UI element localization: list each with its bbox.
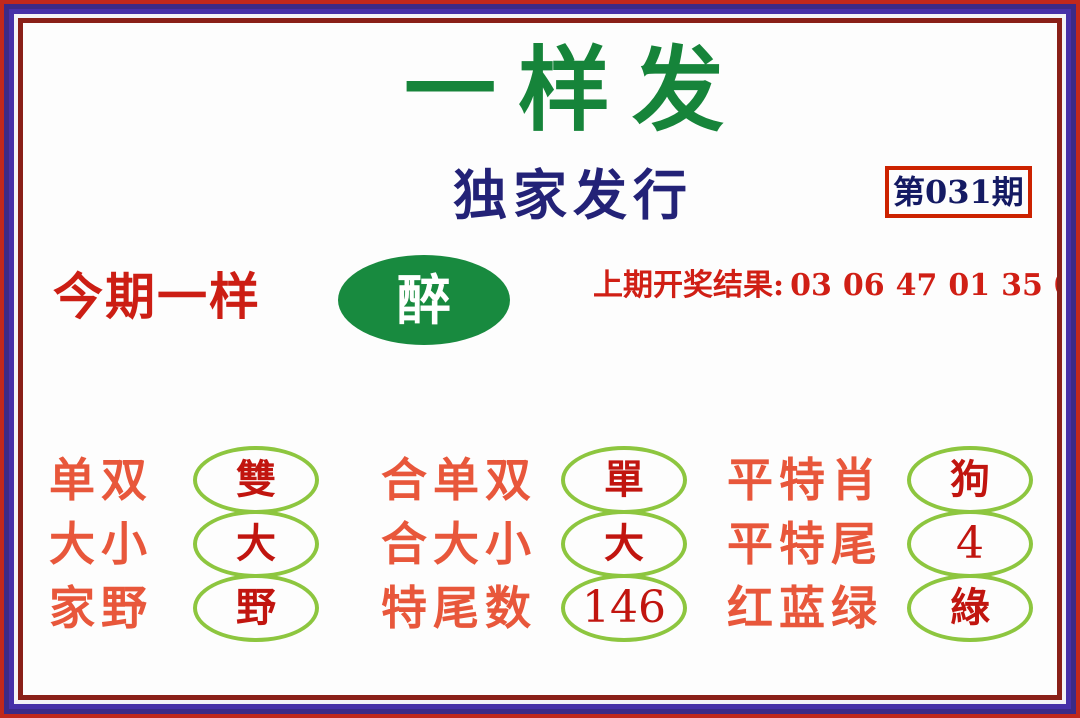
prediction-row: 红蓝绿綠 <box>727 576 1057 640</box>
prediction-row: 单双雙 <box>49 448 359 512</box>
prediction-value-ellipse: 野 <box>193 574 319 642</box>
prediction-value-wrap: 雙 <box>153 446 359 514</box>
poster-canvas: 一样发 独家发行 第031期 今期一样 醉 上期开奖结果:03064701350… <box>23 23 1057 695</box>
prediction-row: 平特尾4 <box>727 512 1057 576</box>
slogan-badge-ellipse: 醉 <box>338 255 510 345</box>
prediction-row: 合大小大 <box>381 512 711 576</box>
prediction-value-wrap: 146 <box>537 574 711 642</box>
prediction-row: 大小大 <box>49 512 359 576</box>
prediction-value: 大 <box>236 522 276 566</box>
prediction-value-wrap: 狗 <box>883 446 1057 514</box>
slogan-text: 今期一样 <box>53 267 261 327</box>
subtitle-text: 独家发行 <box>453 165 693 225</box>
prediction-value-ellipse: 綠 <box>907 574 1033 642</box>
prediction-value-ellipse: 單 <box>561 446 687 514</box>
prediction-value: 大 <box>604 522 644 566</box>
prediction-value-wrap: 野 <box>153 574 359 642</box>
result-number: 01 <box>948 268 990 303</box>
prediction-label: 大小 <box>49 518 153 570</box>
prediction-value: 綠 <box>950 586 990 630</box>
prediction-value: 4 <box>956 522 984 566</box>
predictions-column-1: 单双雙大小大家野野 <box>49 448 359 678</box>
slogan-badge-character: 醉 <box>397 271 451 329</box>
result-number: 35 <box>1001 268 1043 303</box>
result-number: 06 <box>843 268 885 303</box>
prediction-value-ellipse: 狗 <box>907 446 1033 514</box>
prediction-value-ellipse: 大 <box>561 510 687 578</box>
prediction-label: 合单双 <box>381 454 537 506</box>
prediction-value-wrap: 大 <box>537 510 711 578</box>
prediction-value: 野 <box>236 586 276 630</box>
prediction-value-wrap: 綠 <box>883 574 1057 642</box>
page-title: 一样发 <box>285 33 865 148</box>
prediction-label: 特尾数 <box>381 582 537 634</box>
prediction-value: 狗 <box>950 458 990 502</box>
predictions-grid: 单双雙大小大家野野 合单双單合大小大特尾数146 平特肖狗平特尾4红蓝绿綠 <box>31 448 1057 678</box>
predictions-column-2: 合单双單合大小大特尾数146 <box>381 448 711 678</box>
subtitle-row: 独家发行 第031期 <box>453 165 1053 227</box>
result-number: 47 <box>896 268 938 303</box>
result-number: 03 <box>790 268 832 303</box>
prediction-label: 平特肖 <box>727 454 883 506</box>
prediction-value: 雙 <box>236 458 276 502</box>
prediction-row: 合单双單 <box>381 448 711 512</box>
prediction-value-ellipse: 雙 <box>193 446 319 514</box>
prediction-label: 家野 <box>49 582 153 634</box>
prediction-value-ellipse: 146 <box>561 574 687 642</box>
slogan-row: 今期一样 醉 <box>53 255 523 355</box>
prediction-row: 平特肖狗 <box>727 448 1057 512</box>
prediction-value-ellipse: 大 <box>193 510 319 578</box>
issue-number-label: 第031期 <box>893 173 1024 211</box>
result-number: 04+41 <box>1054 268 1057 303</box>
prediction-value-ellipse: 4 <box>907 510 1033 578</box>
prediction-row: 家野野 <box>49 576 359 640</box>
issue-badge: 第031期 <box>885 166 1032 218</box>
last-draw-result-numbers: 030647013504+41 <box>790 268 1057 303</box>
prediction-label: 合大小 <box>381 518 537 570</box>
prediction-value-wrap: 單 <box>537 446 711 514</box>
last-draw-result: 上期开奖结果:030647013504+41 <box>593 266 1057 306</box>
prediction-value: 單 <box>604 458 644 502</box>
prediction-row: 特尾数146 <box>381 576 711 640</box>
last-draw-result-label: 上期开奖结果: <box>593 268 784 303</box>
prediction-label: 单双 <box>49 454 153 506</box>
predictions-column-3: 平特肖狗平特尾4红蓝绿綠 <box>727 448 1057 678</box>
prediction-value-wrap: 大 <box>153 510 359 578</box>
lottery-poster: 一样发 独家发行 第031期 今期一样 醉 上期开奖结果:03064701350… <box>0 0 1080 718</box>
prediction-label: 红蓝绿 <box>727 582 883 634</box>
prediction-value-wrap: 4 <box>883 510 1057 578</box>
prediction-value: 146 <box>582 586 666 630</box>
prediction-label: 平特尾 <box>727 518 883 570</box>
